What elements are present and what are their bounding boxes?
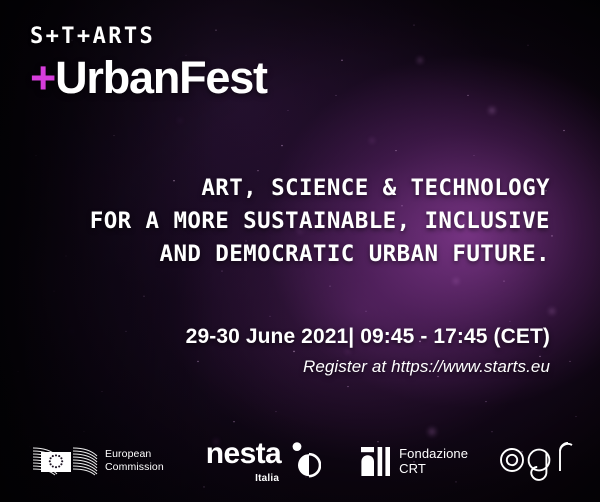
headline-line-1: ART, SCIENCE & TECHNOLOGY xyxy=(90,172,550,205)
ogr-outline-wordmark-icon xyxy=(498,439,576,483)
eu-flag-emblem-icon xyxy=(32,444,98,478)
ec-line-2: Commission xyxy=(105,461,164,474)
poster-content: S+T+ARTS +UrbanFest ART, SCIENCE & TECHN… xyxy=(0,0,600,502)
headline-line-2: FOR A MORE SUSTAINABLE, INCLUSIVE xyxy=(90,205,550,238)
logo-ogr xyxy=(498,439,576,483)
nesta-wordmark: nesta xyxy=(206,439,281,469)
logo-nesta-italia: nesta Italia xyxy=(206,439,321,484)
crt-line-2: CRT xyxy=(399,461,468,476)
crt-line-1: Fondazione xyxy=(399,446,468,461)
brand-event-title: +UrbanFest xyxy=(30,55,267,100)
headline-block: ART, SCIENCE & TECHNOLOGY FOR A MORE SUS… xyxy=(90,172,550,271)
european-commission-wordmark: European Commission xyxy=(105,448,164,474)
sponsor-logo-bar: European Commission nesta Italia xyxy=(0,428,600,494)
ec-line-1: European xyxy=(105,448,164,461)
headline-line-3: AND DEMOCRATIC URBAN FUTURE. xyxy=(90,238,550,271)
crt-arch-bars-icon xyxy=(361,445,392,477)
event-date-time: 29-30 June 2021| 09:45 - 17:45 (CET) xyxy=(186,325,550,349)
nesta-text-group: nesta Italia xyxy=(206,439,281,484)
logo-fondazione-crt: Fondazione CRT xyxy=(361,445,468,477)
event-register-link[interactable]: Register at https://www.starts.eu xyxy=(186,357,550,377)
brand-event-name: UrbanFest xyxy=(55,52,267,103)
logo-european-commission: European Commission xyxy=(32,444,164,478)
brand-program-label: S+T+ARTS xyxy=(30,26,267,48)
event-info-block: 29-30 June 2021| 09:45 - 17:45 (CET) Reg… xyxy=(186,325,550,377)
nesta-sub-label: Italia xyxy=(206,474,279,484)
fondazione-crt-wordmark: Fondazione CRT xyxy=(399,446,468,477)
brand-lockup: S+T+ARTS +UrbanFest xyxy=(30,26,267,100)
poster-canvas: S+T+ARTS +UrbanFest ART, SCIENCE & TECHN… xyxy=(0,0,600,502)
brand-plus-glyph: + xyxy=(30,52,55,103)
nesta-circle-mark-icon xyxy=(287,441,321,481)
